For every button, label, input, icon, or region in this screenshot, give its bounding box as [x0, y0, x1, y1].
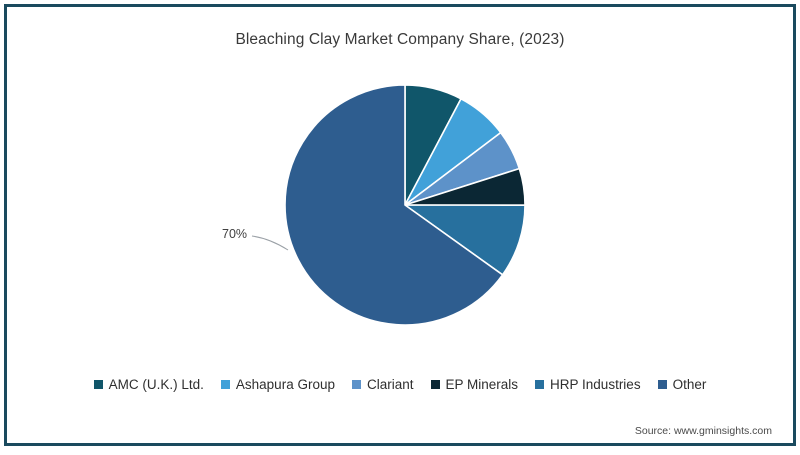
legend-item-label: EP Minerals [446, 378, 519, 392]
pie-slice-group [285, 85, 525, 325]
legend-swatch-icon [94, 380, 103, 389]
legend-item-label: Other [673, 378, 707, 392]
legend-swatch-icon [658, 380, 667, 389]
legend-item-hrp-industries[interactable]: HRP Industries [535, 378, 641, 392]
legend-item-label: HRP Industries [550, 378, 641, 392]
legend-swatch-icon [352, 380, 361, 389]
legend-item-ep-minerals[interactable]: EP Minerals [431, 378, 519, 392]
legend-item-other[interactable]: Other [658, 378, 707, 392]
legend-item-amc-uk-ltd[interactable]: AMC (U.K.) Ltd. [94, 378, 204, 392]
legend-item-label: Ashapura Group [236, 378, 335, 392]
legend-swatch-icon [535, 380, 544, 389]
source-attribution: Source: www.gminsights.com [635, 425, 772, 437]
chart-canvas: Bleaching Clay Market Company Share, (20… [0, 0, 800, 450]
callout-leader-line [252, 236, 288, 250]
legend-item-label: Clariant [367, 378, 414, 392]
chart-legend: AMC (U.K.) Ltd. Ashapura Group Clariant … [0, 378, 800, 392]
pie-data-label-other: 70% [222, 227, 247, 241]
legend-item-label: AMC (U.K.) Ltd. [109, 378, 204, 392]
legend-swatch-icon [221, 380, 230, 389]
pie-callout-leader-line [252, 236, 288, 250]
legend-swatch-icon [431, 380, 440, 389]
legend-item-ashapura-group[interactable]: Ashapura Group [221, 378, 335, 392]
legend-item-clariant[interactable]: Clariant [352, 378, 414, 392]
